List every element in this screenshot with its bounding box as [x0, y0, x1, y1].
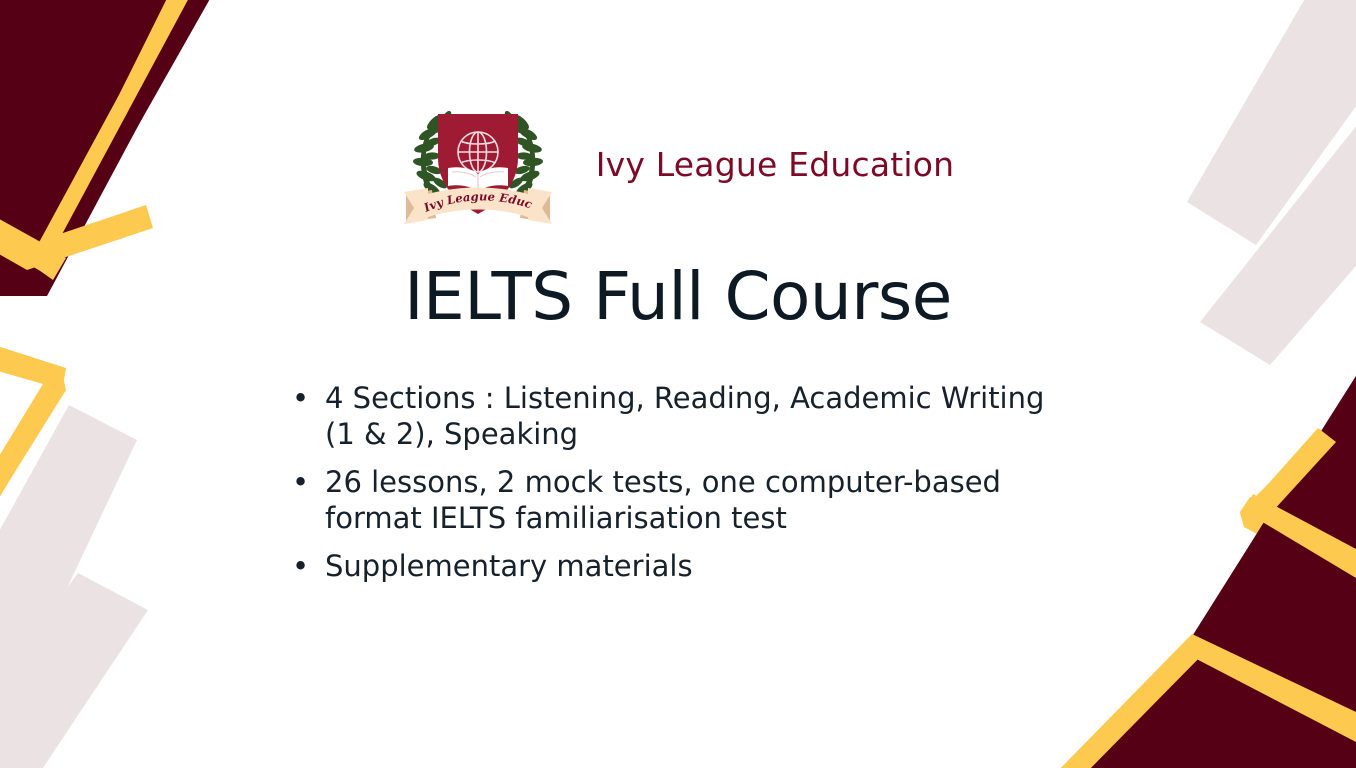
bullet-text: 4 Sections : Listening, Reading, Academi… [325, 381, 1044, 451]
brand-name: Ivy League Education [596, 148, 955, 187]
bullet-marker: • [292, 380, 309, 416]
bullet-text: 26 lessons, 2 mock tests, one computer-b… [325, 465, 1001, 535]
list-item: • Supplementary materials [286, 548, 1060, 584]
slide-canvas: Ivy League Education Ivy League Educatio… [0, 0, 1356, 768]
bullet-text: Supplementary materials [325, 549, 693, 583]
globe-icon [458, 132, 498, 172]
list-item: • 26 lessons, 2 mock tests, one computer… [286, 464, 1060, 536]
bullet-list: • 4 Sections : Listening, Reading, Acade… [286, 380, 1126, 596]
bullet-marker: • [292, 464, 309, 500]
brand-row: Ivy League Education Ivy League Educatio… [0, 96, 1356, 238]
logo: Ivy League Education [402, 96, 554, 238]
crest-icon: Ivy League Education [402, 96, 554, 238]
page-title: IELTS Full Course [0, 262, 1356, 331]
list-item: • 4 Sections : Listening, Reading, Acade… [286, 380, 1060, 452]
bullet-marker: • [292, 548, 309, 584]
